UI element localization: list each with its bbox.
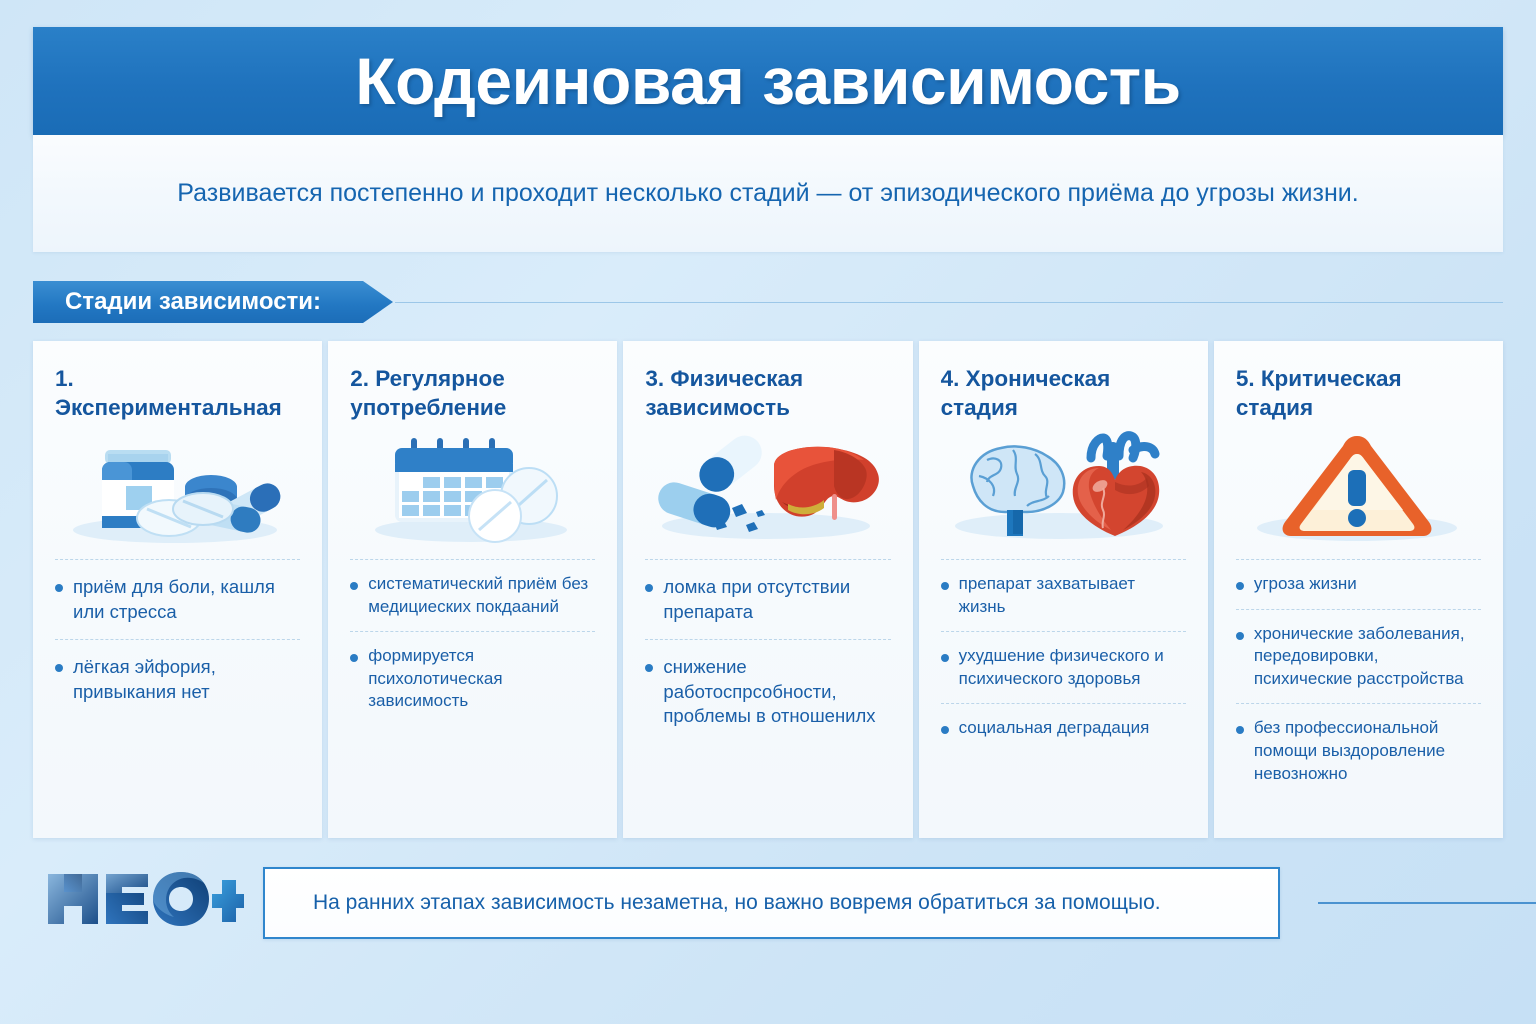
bullet-dot-icon: [1236, 582, 1244, 590]
list-item: приём для боли, кашля или стресса: [55, 559, 300, 639]
stage-title: 4. Хроническая стадия: [941, 365, 1186, 427]
bullet-dot-icon: [645, 664, 653, 672]
bullet-text: социальная деградация: [959, 717, 1150, 740]
stage-card-3: 3. Физическая зависимость: [623, 341, 912, 838]
bullet-text: ломка при отсутствии препарата: [663, 575, 890, 624]
stage-card-2: 2. Регулярное употребление: [328, 341, 617, 838]
stage-card-4: 4. Хроническая стадия: [919, 341, 1208, 838]
list-item: угроза жизни: [1236, 559, 1481, 609]
footer-note-box: На ранних этапах зависимость незаметна, …: [263, 867, 1280, 939]
list-item: хронические заболевания, передовировки, …: [1236, 609, 1481, 704]
bullet-text: лёгкая эйфория, привыкания нет: [73, 655, 300, 704]
bullet-text: угроза жизни: [1254, 573, 1357, 596]
stage-title: 2. Регулярное употребление: [350, 365, 595, 427]
bullet-dot-icon: [1236, 632, 1244, 640]
bullet-text: без профессиональной помощи выздоровлени…: [1254, 717, 1481, 785]
stage-bullets: угроза жизни хронические заболевания, пе…: [1236, 559, 1481, 798]
list-item: снижение работоспрсобности, проблемы в о…: [645, 639, 890, 744]
page-title: Кодеиновая зависимость: [355, 43, 1180, 119]
list-item: препарат захватывает жизнь: [941, 559, 1186, 631]
stages-grid: 1. Экспериментальная: [33, 341, 1503, 838]
footer-note-text: На ранних этапах зависимость незаметна, …: [313, 891, 1161, 915]
bullet-dot-icon: [941, 654, 949, 662]
brain-heart-icon: [941, 429, 1186, 547]
bullet-dot-icon: [350, 654, 358, 662]
capsule-liver-icon: [645, 429, 890, 547]
header-band: Кодеиновая зависимость: [33, 27, 1503, 135]
stage-bullets: систематический приём без медициеских по…: [350, 559, 595, 726]
section-ribbon-row: Стадии зависимости:: [33, 281, 1503, 323]
section-ribbon-label: Стадии зависимости:: [65, 288, 321, 316]
list-item: ломка при отсутствии препарата: [645, 559, 890, 639]
bullet-text: ухудшение физического и психического здо…: [959, 645, 1186, 690]
list-item: систематический приём без медициеских по…: [350, 559, 595, 631]
bullet-dot-icon: [941, 726, 949, 734]
calendar-pills-icon: [350, 429, 595, 547]
stage-card-5: 5. Критическая стадия угроза жизни хрони…: [1214, 341, 1503, 838]
bullet-text: систематический приём без медициеских по…: [368, 573, 595, 618]
list-item: без профессиональной помощи выздоровлени…: [1236, 703, 1481, 798]
bullet-text: хронические заболевания, передовировки, …: [1254, 623, 1481, 691]
warning-triangle-icon: [1236, 429, 1481, 547]
bullet-dot-icon: [55, 664, 63, 672]
list-item: формируется психолотическая зависимость: [350, 631, 595, 726]
footer: На ранних этапах зависимость незаметна, …: [0, 852, 1536, 962]
list-item: лёгкая эйфория, привыкания нет: [55, 639, 300, 719]
ribbon-rule: [395, 302, 1503, 303]
stage-bullets: приём для боли, кашля или стресса лёгкая…: [55, 559, 300, 719]
stage-bullets: ломка при отсутствии препарата снижение …: [645, 559, 890, 744]
list-item: ухудшение физического и психического здо…: [941, 631, 1186, 703]
bullet-dot-icon: [941, 582, 949, 590]
stage-bullets: препарат захватывает жизнь ухудшение физ…: [941, 559, 1186, 753]
bullet-dot-icon: [1236, 726, 1244, 734]
bullet-dot-icon: [55, 584, 63, 592]
stage-card-1: 1. Экспериментальная: [33, 341, 322, 838]
subtitle-panel: Развивается постепенно и проходит нескол…: [33, 135, 1503, 252]
footer-rule: [1318, 902, 1536, 904]
bullet-text: формируется психолотическая зависимость: [368, 645, 595, 713]
neo-plus-logo: [44, 866, 244, 932]
bullet-text: снижение работоспрсобности, проблемы в о…: [663, 655, 890, 729]
bullet-dot-icon: [645, 584, 653, 592]
list-item: социальная деградация: [941, 703, 1186, 753]
section-ribbon: Стадии зависимости:: [33, 281, 393, 323]
page-subtitle: Развивается постепенно и проходит нескол…: [177, 175, 1358, 211]
stage-title: 5. Критическая стадия: [1236, 365, 1481, 427]
bullet-dot-icon: [350, 582, 358, 590]
bullet-text: препарат захватывает жизнь: [959, 573, 1186, 618]
stage-title: 1. Экспериментальная: [55, 365, 300, 427]
pill-bottle-icon: [55, 429, 300, 547]
bullet-text: приём для боли, кашля или стресса: [73, 575, 300, 624]
stage-title: 3. Физическая зависимость: [645, 365, 890, 427]
